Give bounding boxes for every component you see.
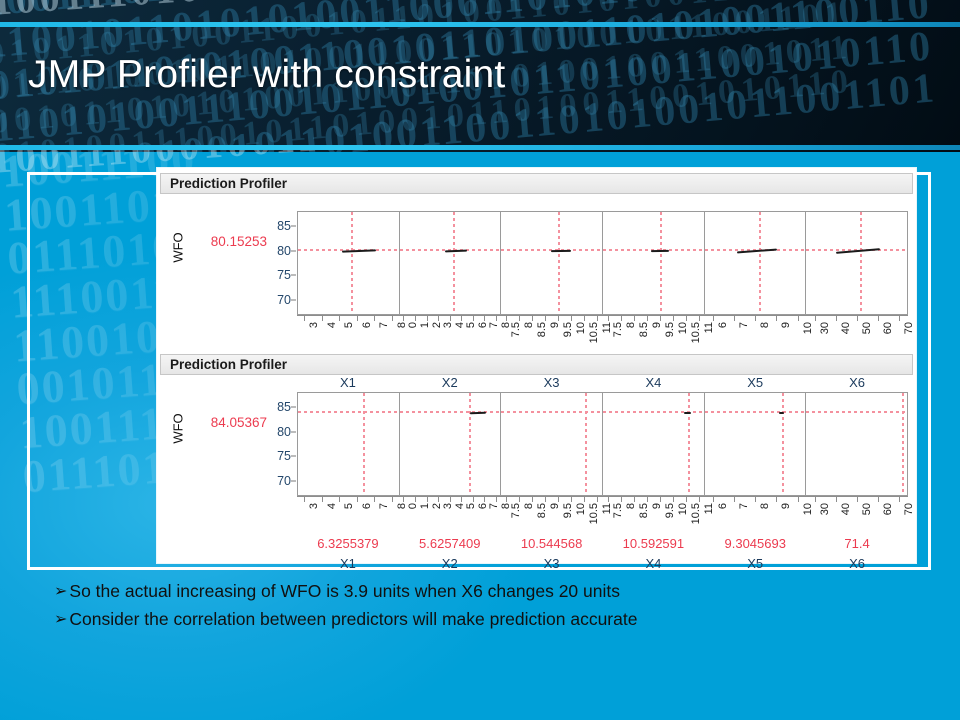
x-axis-tick-label: 7 [738, 503, 750, 509]
x-axis-tick-mark [584, 316, 585, 321]
vertical-crosshair-handle[interactable] [558, 212, 560, 314]
x-axis-tick-mark [532, 497, 533, 502]
y-axis-tick-label: 85 [277, 400, 291, 414]
x-axis-tick-mark [427, 316, 428, 321]
x-axis-tick-label: 3 [442, 322, 454, 328]
x-axis-tick-mark [815, 497, 816, 502]
vertical-crosshair-handle[interactable] [469, 393, 471, 495]
x-axis-tick-label: 1 [419, 322, 431, 328]
x-axis-tick-mark [322, 316, 323, 321]
x-axis-tick-mark [755, 497, 756, 502]
x-axis-tick-label: 7 [488, 503, 500, 509]
x-axis-tick-label: 7 [378, 503, 390, 509]
x-axis-tick-mark [357, 316, 358, 321]
y-axis-tick-label: 75 [277, 268, 291, 282]
response-current-value[interactable]: 80.15253 [189, 234, 267, 249]
x-axis-tick-mark [496, 316, 497, 321]
header-accent-line-top [0, 22, 960, 27]
x-axis-tick-mark [545, 316, 546, 321]
response-current-value[interactable]: 84.05367 [189, 415, 267, 430]
prediction-trace-line [551, 250, 571, 252]
x-axis-tick-label: 9.5 [562, 322, 574, 337]
x-axis-tick-mark [699, 316, 700, 321]
x-axis-tick-mark [634, 497, 635, 502]
x-axis-ruler [501, 315, 603, 321]
prediction-profiler-panel: Prediction ProfilerWFO84.053678580757034… [157, 354, 916, 530]
x-axis-tick-mark [699, 497, 700, 502]
x-axis-row: 3456780123456787.588.599.51010.5117.588.… [297, 496, 908, 530]
x-axis-x6: 3040506070 [806, 496, 908, 530]
factor-name-row: X1X2X3X4X5X6 [297, 555, 908, 573]
x-axis-tick-label: 6 [361, 503, 373, 509]
x-axis-tick-label: 40 [840, 503, 852, 515]
vertical-crosshair-handle[interactable] [453, 212, 455, 314]
x-axis-tick-label: 2 [431, 322, 443, 328]
horizontal-crosshair [705, 411, 806, 413]
x-axis-tick-mark [357, 497, 358, 502]
vertical-crosshair-handle[interactable] [351, 212, 353, 314]
header-accent-line-bottom [0, 145, 960, 150]
x-axis-tick-label: 8.5 [638, 503, 650, 518]
x-axis-tick-mark [438, 497, 439, 502]
factor-value-row: 6.32553795.625740910.54456810.5925919.30… [297, 535, 908, 553]
profiler-cell-x3[interactable] [501, 392, 603, 496]
x-axis-tick-mark [878, 497, 879, 502]
x-axis-tick-mark [304, 497, 305, 502]
x-axis-tick-label: 8.5 [638, 322, 650, 337]
x-axis-tick-label: 3 [308, 322, 320, 328]
response-axis-label: WFO [167, 397, 189, 459]
x-axis-tick-label: 4 [454, 322, 466, 328]
x-axis-tick-mark [339, 316, 340, 321]
factor-name-cell: X2 [399, 555, 501, 573]
x-axis-tick-mark [660, 316, 661, 321]
x-axis-tick-mark [438, 316, 439, 321]
x-axis-tick-mark [798, 497, 799, 502]
y-axis-ticks: 85807570 [269, 395, 295, 493]
x-axis-tick-label: 60 [882, 322, 894, 334]
x-axis-tick-label: 6 [717, 503, 729, 509]
x-axis-tick-mark [857, 316, 858, 321]
x-axis-ruler [806, 315, 908, 321]
factor-value-x6[interactable]: 71.4 [844, 536, 869, 551]
y-axis-tick-label: 70 [277, 474, 291, 488]
profiler-cell-row [297, 392, 908, 496]
x-axis-tick-label: 7.5 [510, 322, 522, 337]
x-axis-tick-label: 10 [677, 322, 689, 334]
x-axis-tick-label: 4 [454, 503, 466, 509]
prediction-profiler-panel: Prediction ProfilerWFO80.152538580757034… [157, 173, 916, 349]
bullet-text: So the actual increasing of WFO is 3.9 u… [69, 578, 914, 604]
x-axis-tick-mark [484, 497, 485, 502]
x-axis-tick-label: 9.5 [562, 503, 574, 518]
x-axis-tick-mark [734, 497, 735, 502]
x-axis-tick-label: 0 [407, 322, 419, 328]
y-axis-tick-mark [291, 250, 296, 251]
prediction-trace-line [342, 250, 376, 253]
y-axis-tick-mark [291, 431, 296, 432]
x-axis-tick-label: 8 [625, 503, 637, 509]
prediction-trace-line [445, 250, 467, 253]
x-axis-tick-mark [686, 316, 687, 321]
x-axis-x1: 345678 [297, 315, 399, 349]
factor-value-x3[interactable]: 10.544568 [521, 536, 582, 551]
x-axis-tick-label: 9.5 [664, 503, 676, 518]
x-axis-tick-mark [304, 316, 305, 321]
x-axis-tick-mark [776, 497, 777, 502]
x-axis-x2: 012345678 [399, 496, 501, 530]
vertical-crosshair-handle[interactable] [759, 212, 761, 314]
y-axis-tick-mark [291, 480, 296, 481]
x-axis-tick-label: 8 [523, 503, 535, 509]
x-axis-tick-mark [461, 497, 462, 502]
x-axis-x1: 345678 [297, 496, 399, 530]
x-axis-tick-label: 7.5 [612, 322, 624, 337]
y-axis-tick-mark [291, 299, 296, 300]
y-axis-tick-label: 85 [277, 219, 291, 233]
horizontal-crosshair [298, 411, 399, 413]
y-axis-tick-label: 80 [277, 244, 291, 258]
factor-name-cell: X5 [704, 555, 806, 573]
y-axis-tick-mark [291, 275, 296, 276]
x-axis-tick-mark [597, 497, 598, 502]
x-axis-tick-label: 8 [759, 322, 771, 328]
profiler-cell-x4[interactable] [603, 211, 705, 315]
profiler-title-bar[interactable]: Prediction Profiler [160, 354, 913, 375]
x-axis-tick-label: 7 [738, 322, 750, 328]
x-axis-x4: 7.588.599.51010.511 [602, 315, 704, 349]
x-axis-x3: 7.588.599.51010.511 [501, 496, 603, 530]
x-axis-tick-label: 9 [549, 322, 561, 328]
x-axis-tick-mark [857, 497, 858, 502]
list-item: ➢So the actual increasing of WFO is 3.9 … [54, 578, 914, 604]
factor-value-cell: 6.3255379 [297, 535, 399, 553]
x-axis-x6: 3040506070 [806, 315, 908, 349]
y-axis-tick-mark [291, 456, 296, 457]
x-axis-x4: 7.588.599.51010.511 [602, 496, 704, 530]
profiler-cell-x2[interactable] [400, 211, 502, 315]
x-axis-tick-label: 9 [651, 322, 663, 328]
x-axis-tick-mark [815, 316, 816, 321]
x-axis-tick-mark [713, 316, 714, 321]
x-axis-tick-label: 10 [575, 322, 587, 334]
x-axis-tick-label: 5 [465, 503, 477, 509]
profiler-cell-x5[interactable] [705, 392, 807, 496]
vertical-crosshair-handle[interactable] [660, 212, 662, 314]
factor-name-x5: X5 [747, 556, 763, 571]
vertical-crosshair-handle[interactable] [902, 393, 904, 495]
x-axis-ruler [297, 315, 399, 321]
x-axis-tick-mark [519, 316, 520, 321]
x-axis-tick-label: 8 [625, 322, 637, 328]
profiler-cell-x3[interactable] [501, 211, 603, 315]
x-axis-tick-label: 7.5 [612, 503, 624, 518]
x-axis-tick-mark [461, 316, 462, 321]
x-axis-tick-mark [755, 316, 756, 321]
profiler-cell-x1[interactable] [297, 392, 400, 496]
x-axis-tick-mark [473, 497, 474, 502]
factor-name-x6: X6 [849, 556, 865, 571]
x-axis-ruler [399, 496, 501, 502]
x-axis-tick-label: 5 [343, 503, 355, 509]
x-axis-tick-label: 9 [780, 322, 792, 328]
x-axis-tick-label: 8.5 [536, 503, 548, 518]
top-strip-binary: 1001110101001100101100101100011100110011… [0, 0, 960, 22]
x-axis-tick-label: 8 [523, 322, 535, 328]
x-axis-tick-label: 5 [465, 322, 477, 328]
x-axis-tick-label: 40 [840, 322, 852, 334]
x-axis-tick-mark [713, 497, 714, 502]
x-axis-tick-mark [899, 497, 900, 502]
x-axis-tick-label: 5 [343, 322, 355, 328]
vertical-crosshair-handle[interactable] [688, 393, 690, 495]
factor-value-x1[interactable]: 6.3255379 [317, 536, 378, 551]
profiler-title-label: Prediction Profiler [170, 176, 287, 191]
x-axis-tick-mark [571, 497, 572, 502]
y-axis-tick-label: 70 [277, 293, 291, 307]
response-axis-label-text: WFO [171, 232, 186, 262]
x-axis-tick-mark [473, 316, 474, 321]
x-axis-tick-label: 50 [861, 503, 873, 515]
jmp-screenshot-image: Prediction ProfilerWFO80.152538580757034… [157, 168, 916, 563]
x-axis-tick-mark [776, 316, 777, 321]
factor-name-cell: X1 [297, 555, 399, 573]
factor-value-cell: 10.592591 [602, 535, 704, 553]
vertical-crosshair-handle[interactable] [782, 393, 784, 495]
x-axis-tick-mark [584, 497, 585, 502]
x-axis-tick-label: 60 [882, 503, 894, 515]
x-axis-x5: 678910 [704, 315, 806, 349]
factor-value-cell: 10.544568 [501, 535, 603, 553]
x-axis-tick-mark [899, 316, 900, 321]
x-axis-tick-label: 30 [819, 322, 831, 334]
x-axis-tick-mark [608, 497, 609, 502]
x-axis-x2: 012345678 [399, 315, 501, 349]
x-axis-tick-label: 1 [419, 503, 431, 509]
x-axis-tick-mark [686, 497, 687, 502]
profiler-cell-x1[interactable] [297, 211, 400, 315]
x-axis-tick-label: 6 [361, 322, 373, 328]
x-axis-tick-mark [597, 316, 598, 321]
x-axis-tick-label: 10 [575, 503, 587, 515]
x-axis-tick-label: 8 [759, 503, 771, 509]
profiler-title-bar[interactable]: Prediction Profiler [160, 173, 913, 194]
response-axis-label: WFO [167, 216, 189, 278]
x-axis-tick-mark [836, 316, 837, 321]
x-axis-tick-label: 0 [407, 503, 419, 509]
factor-name-cell: X4 [602, 555, 704, 573]
x-axis-ruler [297, 496, 399, 502]
x-axis-tick-label: 30 [819, 503, 831, 515]
x-axis-tick-mark [532, 316, 533, 321]
x-axis-ruler [806, 496, 908, 502]
x-axis-tick-label: 70 [903, 322, 915, 334]
x-axis-tick-mark [450, 497, 451, 502]
x-axis-tick-label: 10.5 [690, 503, 702, 524]
vertical-crosshair-handle[interactable] [860, 212, 862, 314]
x-axis-tick-label: 10 [677, 503, 689, 515]
factor-name-x4: X4 [645, 556, 661, 571]
bullet-arrow-icon: ➢ [54, 606, 67, 632]
x-axis-tick-label: 50 [861, 322, 873, 334]
x-axis-tick-label: 4 [326, 322, 338, 328]
x-axis-tick-label: 10.5 [588, 503, 600, 524]
profiler-title-label: Prediction Profiler [170, 357, 287, 372]
x-axis-tick-mark [415, 316, 416, 321]
factor-value-cell: 5.6257409 [399, 535, 501, 553]
x-axis-tick-label: 9 [780, 503, 792, 509]
x-axis-tick-mark [571, 316, 572, 321]
x-axis-ruler [501, 496, 603, 502]
profiler-cell-x2[interactable] [400, 392, 502, 496]
profiler-cell-row [297, 211, 908, 315]
x-axis-ruler [399, 315, 501, 321]
x-axis-tick-label: 3 [442, 503, 454, 509]
x-axis-tick-mark [415, 497, 416, 502]
profiler-cell-x6[interactable] [806, 211, 908, 315]
x-axis-tick-mark [621, 316, 622, 321]
x-axis-tick-mark [647, 497, 648, 502]
x-axis-x3: 7.588.599.51010.511 [501, 315, 603, 349]
y-axis-tick-label: 75 [277, 449, 291, 463]
x-axis-tick-label: 9 [651, 503, 663, 509]
profiler-cell-x5[interactable] [705, 211, 807, 315]
y-axis-tick-mark [291, 407, 296, 408]
prediction-trace-line [779, 412, 784, 414]
bullet-list: ➢So the actual increasing of WFO is 3.9 … [54, 578, 914, 634]
x-axis-tick-mark [634, 316, 635, 321]
factor-name-cell: X6 [806, 555, 908, 573]
y-axis-ticks: 85807570 [269, 214, 295, 312]
x-axis-tick-mark [403, 316, 404, 321]
x-axis-tick-mark [506, 316, 507, 321]
x-axis-tick-mark [798, 316, 799, 321]
factor-value-x2[interactable]: 5.6257409 [419, 536, 480, 551]
y-axis-tick-label: 80 [277, 425, 291, 439]
x-axis-x5: 678910 [704, 496, 806, 530]
x-axis-tick-mark [374, 497, 375, 502]
factor-value-cell: 9.3045693 [704, 535, 806, 553]
x-axis-tick-mark [519, 497, 520, 502]
x-axis-tick-label: 6 [717, 322, 729, 328]
x-axis-tick-mark [374, 316, 375, 321]
factor-name-x1: X1 [340, 556, 356, 571]
vertical-crosshair-handle[interactable] [585, 393, 587, 495]
factor-name-cell: X3 [501, 555, 603, 573]
x-axis-tick-mark [506, 497, 507, 502]
x-axis-tick-label: 9.5 [664, 322, 676, 337]
list-item: ➢Consider the correlation between predic… [54, 606, 914, 632]
x-axis-tick-mark [660, 497, 661, 502]
x-axis-tick-label: 9 [549, 503, 561, 509]
x-axis-tick-mark [545, 497, 546, 502]
factor-name-x2: X2 [442, 556, 458, 571]
x-axis-tick-label: 7 [378, 322, 390, 328]
page-title: JMP Profiler with constraint [28, 52, 505, 98]
bullet-text: Consider the correlation between predict… [69, 606, 914, 632]
x-axis-tick-label: 70 [903, 503, 915, 515]
x-axis-tick-mark [673, 497, 674, 502]
x-axis-tick-mark [403, 497, 404, 502]
x-axis-row: 3456780123456787.588.599.51010.5117.588.… [297, 315, 908, 349]
x-axis-ruler [602, 496, 704, 502]
prediction-trace-line [470, 411, 486, 414]
x-axis-tick-mark [322, 497, 323, 502]
x-axis-tick-label: 7.5 [510, 503, 522, 518]
x-axis-tick-mark [339, 497, 340, 502]
x-axis-tick-mark [608, 316, 609, 321]
horizontal-crosshair [806, 411, 907, 413]
profiler-cell-x6[interactable] [806, 392, 908, 496]
profiler-plot-area: WFO84.05367858075703456780123456787.588.… [157, 375, 916, 530]
x-axis-tick-label: 8.5 [536, 322, 548, 337]
factor-value-x5[interactable]: 9.3045693 [725, 536, 786, 551]
vertical-crosshair-handle[interactable] [363, 393, 365, 495]
x-axis-tick-mark [558, 316, 559, 321]
x-axis-tick-mark [484, 316, 485, 321]
x-axis-tick-mark [836, 497, 837, 502]
factor-value-x4[interactable]: 10.592591 [623, 536, 684, 551]
x-axis-tick-label: 2 [431, 503, 443, 509]
y-axis-tick-mark [291, 226, 296, 227]
x-axis-tick-mark [673, 316, 674, 321]
x-axis-tick-label: 7 [488, 322, 500, 328]
response-axis-label-text: WFO [171, 413, 186, 443]
x-axis-tick-mark [734, 316, 735, 321]
x-axis-ruler [704, 315, 806, 321]
header-top-strip: 1001110101001100101100101100011100110011… [0, 0, 960, 22]
factor-name-x3: X3 [544, 556, 560, 571]
x-axis-tick-label: 4 [326, 503, 338, 509]
x-axis-tick-label: 10.5 [690, 322, 702, 343]
profiler-cell-x4[interactable] [603, 392, 705, 496]
x-axis-tick-label: 3 [308, 503, 320, 509]
x-axis-tick-mark [392, 316, 393, 321]
x-axis-tick-mark [558, 497, 559, 502]
factor-value-cell: 71.4 [806, 535, 908, 553]
x-axis-tick-mark [427, 497, 428, 502]
x-axis-tick-mark [496, 497, 497, 502]
bullet-arrow-icon: ➢ [54, 578, 67, 604]
x-axis-tick-mark [392, 497, 393, 502]
slide-root: 10011100 10011010 01110100 11100110 1100… [0, 0, 960, 720]
x-axis-tick-mark [647, 316, 648, 321]
prediction-trace-line [684, 412, 691, 414]
profiler-plot-area: WFO80.15253858075703456780123456787.588.… [157, 194, 916, 349]
x-axis-ruler [704, 496, 806, 502]
x-axis-tick-label: 10.5 [588, 322, 600, 343]
x-axis-tick-mark [450, 316, 451, 321]
x-axis-tick-mark [878, 316, 879, 321]
x-axis-ruler [602, 315, 704, 321]
x-axis-tick-mark [621, 497, 622, 502]
